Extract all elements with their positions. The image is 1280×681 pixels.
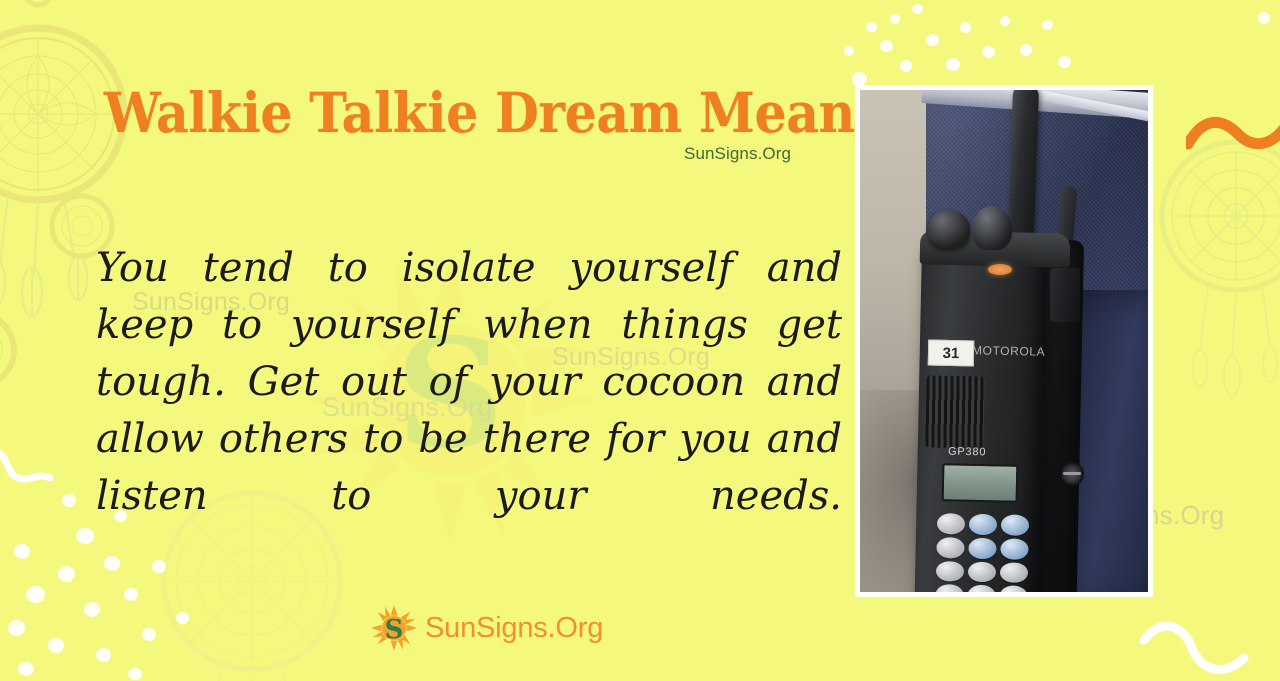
radio-key [969, 514, 997, 535]
radio-key [1001, 514, 1029, 535]
confetti-dot [1058, 56, 1071, 68]
confetti-dot [62, 494, 76, 507]
page-title: Walkie Talkie Dream Meaning [104, 82, 803, 144]
confetti-dot [26, 586, 45, 603]
confetti-dot [8, 620, 25, 636]
confetti-dot [48, 638, 64, 653]
radio-key [935, 584, 963, 592]
confetti-dot [58, 566, 75, 582]
confetti-dot [14, 544, 30, 559]
confetti-dot [1042, 20, 1053, 30]
confetti-dot [1258, 12, 1270, 24]
confetti-dot [900, 60, 912, 72]
radio-speaker-grille [925, 375, 984, 448]
walkie-talkie-photo: 31 MOTOROLA GP380 [860, 90, 1148, 592]
radio-status-led [988, 264, 1012, 275]
confetti-dot [946, 58, 960, 71]
confetti-dot [926, 34, 939, 46]
confetti-dot [890, 14, 900, 24]
confetti-dot [982, 46, 995, 58]
radio-lcd-display [942, 463, 1019, 503]
svg-text:S: S [385, 615, 404, 645]
squiggle-decoration-left [0, 448, 64, 504]
radio-key [936, 537, 964, 558]
confetti-dot [880, 40, 893, 52]
radio-side-screw [1060, 462, 1084, 486]
confetti-dot [18, 662, 34, 676]
confetti-dot [960, 22, 971, 33]
squiggle-decoration-bottom-right [1140, 618, 1270, 681]
confetti-dot [1020, 44, 1032, 56]
radio-key [1000, 562, 1028, 583]
footer-brand-text: SunSigns.Org [425, 612, 603, 645]
radio-keypad [935, 513, 1029, 592]
radio-brand-text: MOTOROLA [972, 343, 1046, 359]
radio-volume-knob [928, 210, 970, 248]
squiggle-decoration-top-right-orange [1186, 108, 1280, 168]
confetti-dot [76, 528, 94, 544]
sun-logo-icon: S [371, 605, 417, 651]
dream-meaning-body-text: You tend to isolate yourself and keep to… [96, 240, 842, 582]
confetti-dot [1000, 16, 1010, 26]
confetti-dot [176, 612, 189, 624]
radio-model-text: GP380 [948, 446, 986, 459]
title-block: Walkie Talkie Dream Meaning SunSigns.Org [104, 82, 864, 144]
radio-key [1000, 538, 1028, 559]
radio-key [967, 585, 995, 592]
confetti-dot [844, 46, 854, 56]
confetti-dot [912, 4, 923, 14]
confetti-dot [96, 648, 111, 662]
confetti-dot [124, 588, 138, 601]
radio-key [999, 586, 1027, 592]
radio-belt-clip [1050, 268, 1080, 322]
confetti-dot [142, 628, 156, 641]
confetti-dot [84, 602, 100, 617]
radio-key [968, 561, 996, 582]
confetti-dot [128, 668, 142, 680]
radio-key [936, 561, 964, 582]
radio-key [968, 538, 996, 559]
title-watermark: SunSigns.Org [684, 144, 791, 164]
radio-key [937, 513, 965, 534]
dreamcatcher-decoration-right [1146, 120, 1280, 420]
confetti-dot [866, 22, 877, 32]
radio-channel-knob [972, 206, 1012, 250]
footer-brand[interactable]: S SunSigns.Org [371, 605, 603, 651]
dream-meaning-card: S SunSigns.Org SunSigns.Org SunSigns.Org… [0, 0, 1280, 681]
radio-asset-label: 31 [928, 340, 975, 367]
walkie-talkie-photo-frame: 31 MOTOROLA GP380 [856, 86, 1152, 596]
